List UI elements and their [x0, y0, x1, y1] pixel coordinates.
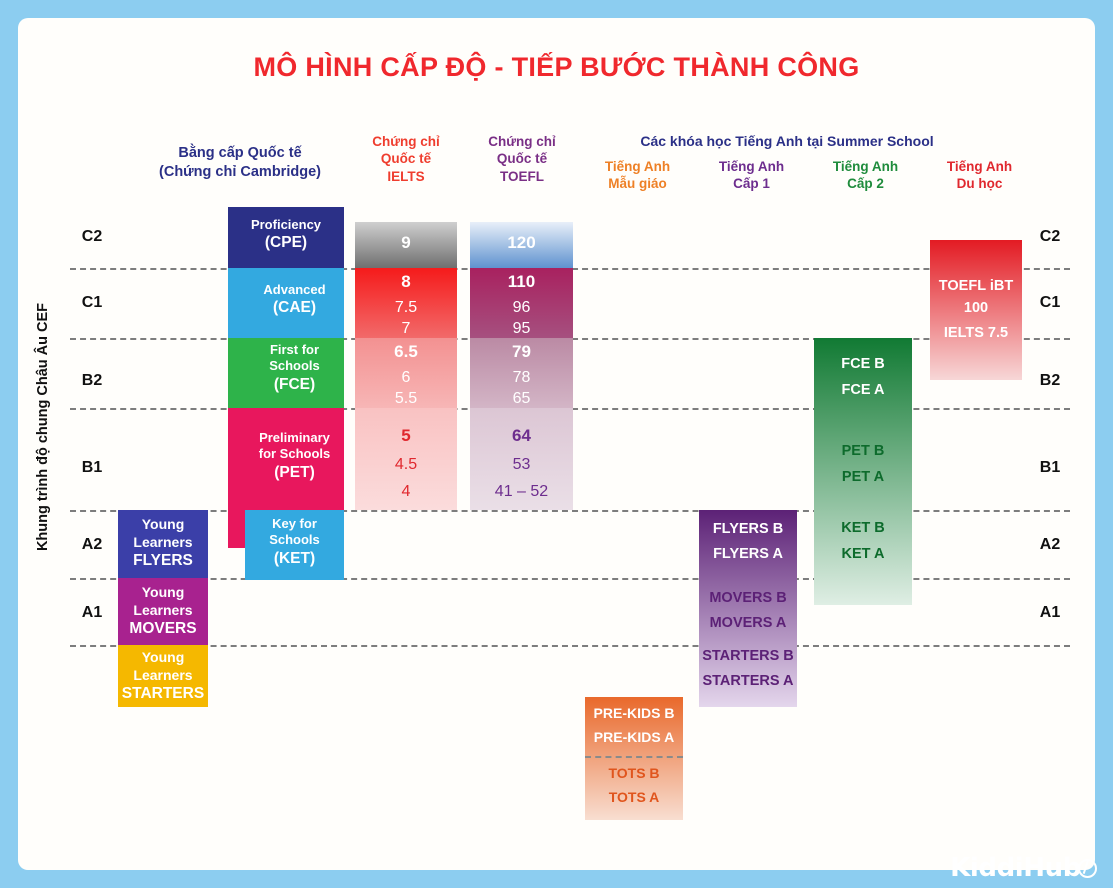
- level-label-right-b1: B1: [1030, 459, 1070, 477]
- yl-starters-line3: STARTERS: [122, 685, 204, 702]
- cap1-column[interactable]: FLYERS B FLYERS A MOVERS B MOVERS A STAR…: [699, 510, 797, 707]
- cambridge-block-ket[interactable]: Key for Schools (KET): [245, 510, 344, 580]
- header-cap2-line1: Tiếng Anh: [808, 158, 923, 175]
- header-summer-school: Các khóa học Tiếng Anh tại Summer School: [592, 133, 982, 151]
- toefl-value-41-52: 41 – 52: [470, 483, 573, 501]
- yl-movers-line2: Learners: [133, 602, 192, 618]
- level-label-right-c1: C1: [1030, 294, 1070, 312]
- level-label-left-a2: A2: [72, 536, 112, 554]
- page-title: MÔ HÌNH CẤP ĐỘ - TIẾP BƯỚC THÀNH CÔNG: [0, 52, 1113, 83]
- cap1-starters-b: STARTERS B: [699, 648, 797, 664]
- yl-movers-line3: MOVERS: [129, 620, 196, 637]
- level-label-left-b1: B1: [72, 459, 112, 477]
- chart-stage: MÔ HÌNH CẤP ĐỘ - TIẾP BƯỚC THÀNH CÔNG Bằ…: [0, 0, 1113, 888]
- globe-icon: [1078, 859, 1097, 878]
- toefl-band-c2[interactable]: 120: [470, 222, 573, 268]
- watermark: KiddiHub: [950, 853, 1097, 883]
- header-ielts-line1: Chứng chỉ: [352, 133, 460, 150]
- cambridge-ket-name1: Key for: [272, 516, 317, 531]
- toefl-value-95: 95: [470, 320, 573, 338]
- level-label-right-a1: A1: [1030, 604, 1070, 622]
- header-toefl-line1: Chứng chỉ: [466, 133, 578, 150]
- toefl-value-79: 79: [470, 342, 573, 362]
- ielts-value-6-5: 6.5: [355, 342, 457, 362]
- header-cap1-line1: Tiếng Anh: [694, 158, 809, 175]
- level-label-right-c2: C2: [1030, 228, 1070, 246]
- header-cap2-line2: Cấp 2: [808, 175, 923, 192]
- toefl-value-78: 78: [470, 369, 573, 387]
- header-ielts-line3: IELTS: [352, 168, 460, 185]
- cambridge-block-cae[interactable]: Advanced (CAE): [245, 268, 344, 338]
- ielts-value-8: 8: [355, 272, 457, 292]
- cambridge-ket-code: (KET): [274, 550, 315, 567]
- watermark-text: KiddiHub: [950, 853, 1081, 883]
- cap2-fce-a: FCE A: [814, 382, 912, 398]
- mau-giao-column[interactable]: PRE-KIDS B PRE-KIDS A TOTS B TOTS A: [585, 697, 683, 820]
- cambridge-block-pet[interactable]: Preliminary for Schools (PET): [245, 408, 344, 510]
- cap2-pet-a: PET A: [814, 469, 912, 485]
- header-ielts-line2: Quốc tế: [352, 150, 460, 167]
- toefl-value-53: 53: [470, 456, 573, 474]
- header-cap2: Tiếng Anh Cấp 2: [808, 158, 923, 193]
- header-mau-giao-line2: Mẫu giáo: [580, 175, 695, 192]
- young-learners-flyers[interactable]: Young Learners FLYERS: [118, 510, 208, 578]
- header-du-hoc-line1: Tiếng Anh: [922, 158, 1037, 175]
- cambridge-cpe-code: (CPE): [265, 234, 307, 251]
- cambridge-pet-name1: Preliminary: [259, 430, 330, 445]
- cambridge-fce-code: (FCE): [274, 376, 315, 393]
- cambridge-ket-name2: Schools: [269, 532, 320, 547]
- yl-starters-line1: Young: [142, 649, 185, 665]
- header-cambridge-line1: Bằng cấp Quốc tế: [100, 144, 380, 163]
- level-label-left-b2: B2: [72, 372, 112, 390]
- ielts-band-b2[interactable]: 6.5 6 5.5: [355, 338, 457, 408]
- cambridge-block-fce[interactable]: First for Schools (FCE): [245, 338, 344, 408]
- header-mau-giao: Tiếng Anh Mẫu giáo: [580, 158, 695, 193]
- cambridge-pet-name2: for Schools: [259, 446, 331, 461]
- du-hoc-line1: TOEFL iBT: [930, 278, 1022, 294]
- header-du-hoc-line2: Du học: [922, 175, 1037, 192]
- cambridge-pet-code: (PET): [274, 464, 314, 481]
- mau-giao-prekids-b: PRE-KIDS B: [585, 705, 683, 721]
- toefl-value-110: 110: [470, 272, 573, 292]
- yl-flyers-line3: FLYERS: [133, 552, 193, 569]
- ielts-value-4-5: 4.5: [355, 456, 457, 474]
- yl-movers-line1: Young: [142, 584, 185, 600]
- cambridge-cae-name: Advanced: [263, 282, 325, 297]
- toefl-value-64: 64: [470, 426, 573, 446]
- cambridge-fce-name2: Schools: [269, 358, 320, 373]
- cap2-ket-a: KET A: [814, 546, 912, 562]
- header-cambridge-line2: (Chứng chỉ Cambridge): [100, 163, 380, 182]
- du-hoc-line3: IELTS 7.5: [930, 325, 1022, 341]
- yl-flyers-line1: Young: [142, 516, 185, 532]
- cambridge-fce-name1: First for: [270, 342, 319, 357]
- cap1-flyers-a: FLYERS A: [699, 546, 797, 562]
- cambridge-cae-code: (CAE): [273, 299, 316, 316]
- level-label-left-a1: A1: [72, 604, 112, 622]
- level-label-right-b2: B2: [1030, 372, 1070, 390]
- ielts-value-5-5: 5.5: [355, 390, 457, 408]
- header-cap1: Tiếng Anh Cấp 1: [694, 158, 809, 193]
- y-axis-label: Khung trình độ chung Châu Âu CEF: [35, 227, 51, 627]
- ielts-value-7: 7: [355, 320, 457, 338]
- gridline-a2-a1: [70, 578, 1070, 580]
- header-toefl: Chứng chỉ Quốc tế TOEFL: [466, 133, 578, 185]
- header-mau-giao-line1: Tiếng Anh: [580, 158, 695, 175]
- toefl-band-b2[interactable]: 79 78 65: [470, 338, 573, 408]
- level-label-right-a2: A2: [1030, 536, 1070, 554]
- cap2-pet-b: PET B: [814, 443, 912, 459]
- toefl-band-c1[interactable]: 110 96 95: [470, 268, 573, 338]
- ielts-band-c1[interactable]: 8 7.5 7: [355, 268, 457, 338]
- ielts-value-4: 4: [355, 483, 457, 501]
- cambridge-block-cpe[interactable]: Proficiency (CPE): [228, 207, 344, 268]
- cap2-ket-b: KET B: [814, 520, 912, 536]
- mau-giao-prekids-a: PRE-KIDS A: [585, 729, 683, 745]
- mau-giao-divider: [585, 756, 683, 758]
- young-learners-movers[interactable]: Young Learners MOVERS: [118, 578, 208, 645]
- ielts-value-7-5: 7.5: [355, 299, 457, 317]
- header-du-hoc: Tiếng Anh Du học: [922, 158, 1037, 193]
- cap1-starters-a: STARTERS A: [699, 673, 797, 689]
- du-hoc-line2: 100: [930, 300, 1022, 316]
- yl-flyers-line2: Learners: [133, 534, 192, 550]
- toefl-value-120: 120: [470, 233, 573, 253]
- ielts-band-c2[interactable]: 9: [355, 222, 457, 268]
- gridline-a1-below: [70, 645, 1070, 647]
- ielts-value-6: 6: [355, 369, 457, 387]
- mau-giao-tots-a: TOTS A: [585, 789, 683, 805]
- cambridge-cpe-name: Proficiency: [251, 217, 321, 232]
- toefl-value-65: 65: [470, 390, 573, 408]
- toefl-band-b1[interactable]: 64 53 41 – 52: [470, 408, 573, 510]
- level-label-left-c1: C1: [72, 294, 112, 312]
- cap2-fce-b: FCE B: [814, 356, 912, 372]
- toefl-value-96: 96: [470, 299, 573, 317]
- header-toefl-line3: TOEFL: [466, 168, 578, 185]
- ielts-value-9: 9: [355, 233, 457, 253]
- header-cap1-line2: Cấp 1: [694, 175, 809, 192]
- cap1-flyers-b: FLYERS B: [699, 521, 797, 537]
- cap1-movers-a: MOVERS A: [699, 615, 797, 631]
- ielts-band-b1[interactable]: 5 4.5 4: [355, 408, 457, 510]
- gridline-b1-a2: [70, 510, 1070, 512]
- du-hoc-column[interactable]: TOEFL iBT 100 IELTS 7.5: [930, 240, 1022, 380]
- cap1-movers-b: MOVERS B: [699, 590, 797, 606]
- mau-giao-tots-b: TOTS B: [585, 765, 683, 781]
- header-cambridge: Bằng cấp Quốc tế (Chứng chỉ Cambridge): [100, 144, 380, 181]
- level-label-left-c2: C2: [72, 228, 112, 246]
- yl-starters-line2: Learners: [133, 667, 192, 683]
- header-ielts: Chứng chỉ Quốc tế IELTS: [352, 133, 460, 185]
- young-learners-starters[interactable]: Young Learners STARTERS: [118, 645, 208, 707]
- header-toefl-line2: Quốc tế: [466, 150, 578, 167]
- ielts-value-5: 5: [355, 426, 457, 446]
- cap2-column[interactable]: FCE B FCE A PET B PET A KET B KET A: [814, 338, 912, 605]
